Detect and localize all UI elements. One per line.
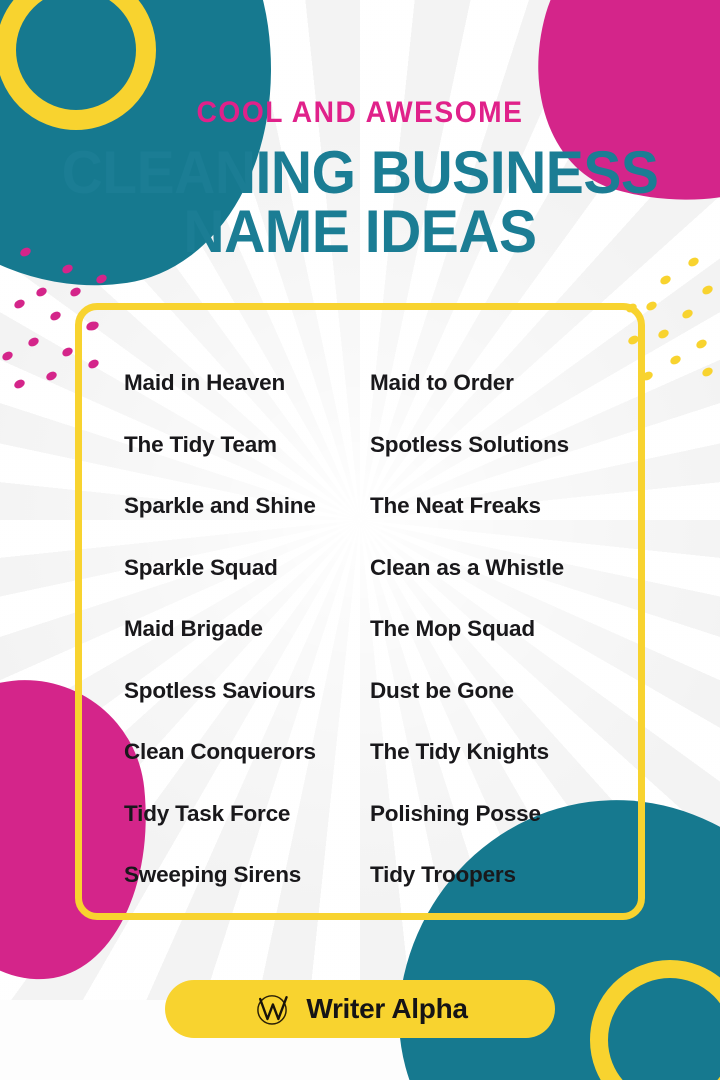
list-item: Clean as a Whistle <box>370 537 638 599</box>
brand-footer-pill: Writer Alpha <box>165 980 555 1038</box>
list-item: Polishing Posse <box>370 783 638 845</box>
page-title: CLEANING BUSINESS NAME IDEAS <box>18 144 702 262</box>
name-list-right-column: Maid to Order Spotless Solutions The Nea… <box>360 352 638 913</box>
list-item: Sweeping Sirens <box>124 844 360 906</box>
name-list-left-column: Maid in Heaven The Tidy Team Sparkle and… <box>82 352 360 913</box>
list-item: Dust be Gone <box>370 660 638 722</box>
title-line-2: NAME IDEAS <box>18 203 702 262</box>
poster-header: COOL AND AWESOME CLEANING BUSINESS NAME … <box>0 0 720 262</box>
w-monogram-circle-icon <box>252 989 292 1029</box>
list-item: Spotless Solutions <box>370 414 638 476</box>
list-item: Tidy Task Force <box>124 783 360 845</box>
list-item: The Neat Freaks <box>370 475 638 537</box>
list-item: The Tidy Team <box>124 414 360 476</box>
list-item: Maid Brigade <box>124 598 360 660</box>
title-line-1: CLEANING BUSINESS <box>18 144 702 203</box>
poster-canvas: COOL AND AWESOME CLEANING BUSINESS NAME … <box>0 0 720 1080</box>
list-item: The Tidy Knights <box>370 721 638 783</box>
list-item: Maid in Heaven <box>124 352 360 414</box>
list-item: Sparkle Squad <box>124 537 360 599</box>
list-item: Spotless Saviours <box>124 660 360 722</box>
name-ideas-box: Maid in Heaven The Tidy Team Sparkle and… <box>75 303 645 920</box>
name-ideas-grid: Maid in Heaven The Tidy Team Sparkle and… <box>82 352 638 913</box>
list-item: Maid to Order <box>370 352 638 414</box>
eyebrow-text: COOL AND AWESOME <box>22 96 699 130</box>
list-item: Sparkle and Shine <box>124 475 360 537</box>
brand-name-label: Writer Alpha <box>306 993 467 1025</box>
list-item: The Mop Squad <box>370 598 638 660</box>
list-item: Clean Conquerors <box>124 721 360 783</box>
list-item: Tidy Troopers <box>370 844 638 906</box>
